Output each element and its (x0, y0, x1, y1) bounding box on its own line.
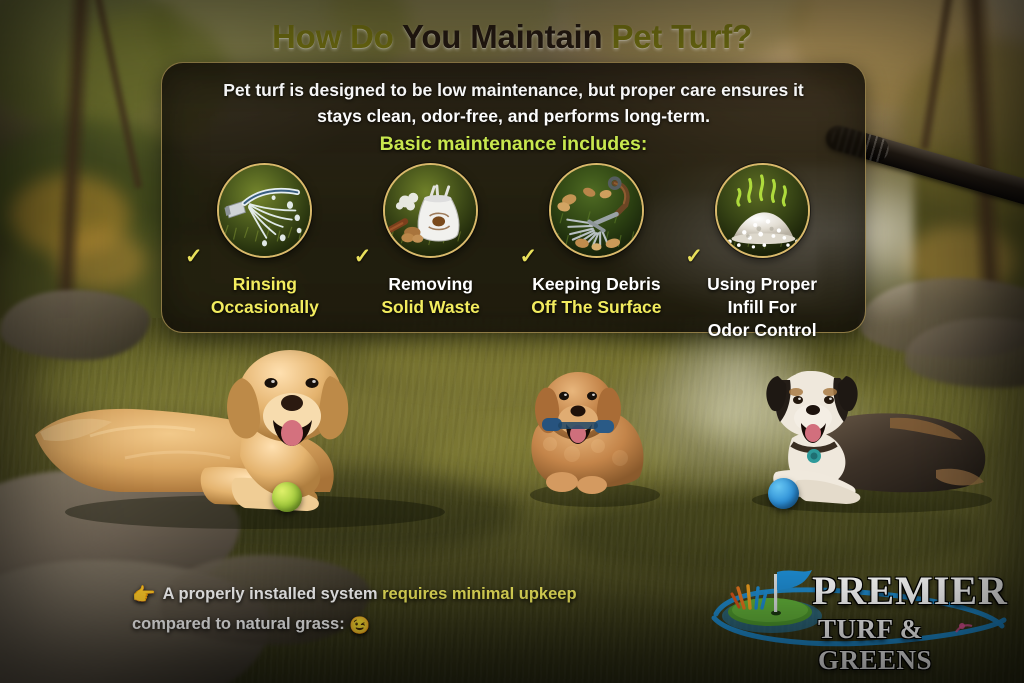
maintenance-item-infill[interactable]: ✓ Using Proper Infill For Odor Control (679, 163, 845, 342)
page-title: How Do You Maintain Pet Turf? (0, 18, 1024, 56)
dog-golden-retriever (30, 340, 480, 530)
intro-line-1: Pet turf is designed to be low maintenan… (223, 80, 804, 100)
caption-line-3: Odor Control (708, 320, 817, 340)
maintenance-items-row: ✓ Rinsing Occasionally (162, 163, 865, 342)
logo-tagline: TURF & GREENS (818, 614, 1008, 676)
company-logo[interactable]: PREMIER TURF & GREENS (708, 558, 1008, 654)
logo-company-name: PREMIER (812, 567, 1008, 614)
caption-line-2: Occasionally (211, 297, 319, 317)
rake-glyph (551, 165, 642, 256)
maintenance-item-waste[interactable]: ✓ Removing Solid Waste (348, 163, 514, 342)
title-part-1: How Do (272, 18, 402, 55)
rake-debris-icon (549, 163, 644, 258)
footer-text-b: compared to natural grass: (132, 615, 349, 633)
waste-bag-glyph (385, 165, 476, 256)
hose-spraying-water-icon (217, 163, 312, 258)
footer-text-a: A properly installed system (163, 585, 382, 603)
maintenance-item-caption: Keeping Debris Off The Surface (514, 273, 680, 319)
blue-ball (768, 478, 799, 509)
maintenance-item-rinsing[interactable]: ✓ Rinsing Occasionally (182, 163, 348, 342)
check-icon: ✓ (185, 247, 205, 267)
waste-bag-scooper-icon (383, 163, 478, 258)
maintenance-item-debris[interactable]: ✓ Keeping Debris Off The Surface (514, 163, 680, 342)
footer-note: 👉A properly installed system requires mi… (132, 580, 692, 640)
caption-line-1: Removing (388, 274, 473, 294)
panel-intro-text: Pet turf is designed to be low maintenan… (184, 77, 843, 129)
maintenance-item-caption: Rinsing Occasionally (182, 273, 348, 319)
caption-line-2: Infill For (728, 297, 797, 317)
infill-odor-control-icon (715, 163, 810, 258)
golden-retriever-figure (30, 340, 480, 530)
maintenance-panel: Pet turf is designed to be low maintenan… (161, 62, 866, 333)
footer-text-highlight: requires minimal upkeep (382, 585, 576, 603)
caption-line-1: Rinsing (233, 274, 297, 294)
wink-face-icon: 😉 (349, 616, 370, 635)
check-icon: ✓ (685, 247, 705, 267)
hose-spray-glyph (219, 165, 310, 256)
infill-pile-glyph (717, 165, 808, 256)
panel-subheading: Basic maintenance includes: (162, 133, 865, 156)
maintenance-item-caption: Removing Solid Waste (348, 273, 514, 319)
caption-line-2: Off The Surface (531, 297, 661, 317)
check-icon: ✓ (520, 247, 540, 267)
pointing-hand-icon: 👉 (132, 585, 156, 606)
intro-line-2: stays clean, odor-free, and performs lon… (317, 106, 710, 126)
check-icon: ✓ (354, 247, 374, 267)
infographic-poster: How Do You Maintain Pet Turf? Pet turf i… (0, 0, 1024, 683)
caption-line-2: Solid Waste (381, 297, 480, 317)
caption-line-1: Using Proper (707, 274, 817, 294)
maintenance-item-caption: Using Proper Infill For Odor Control (679, 273, 845, 342)
dog-goldendoodle (520, 358, 670, 508)
green-tennis-ball (272, 482, 302, 512)
caption-line-1: Keeping Debris (532, 274, 660, 294)
goldendoodle-figure (520, 358, 670, 508)
title-part-2: You Maintain (402, 18, 611, 55)
title-part-3: Pet Turf? (611, 18, 752, 55)
